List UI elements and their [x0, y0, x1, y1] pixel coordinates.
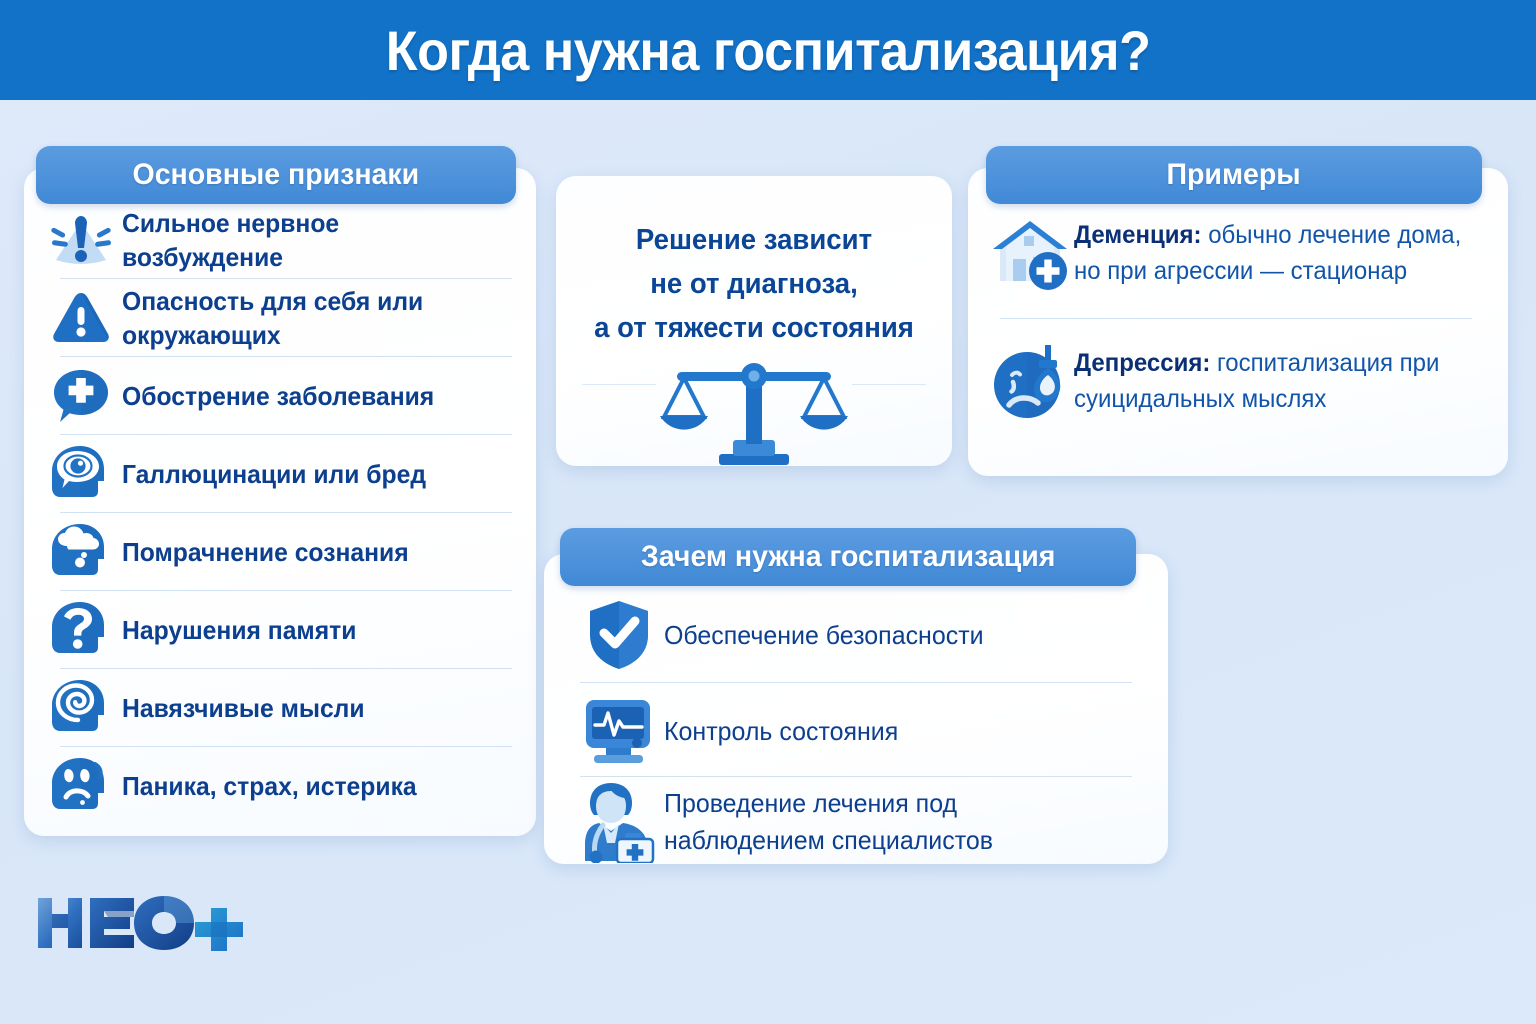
- sign-row[interactable]: Паника, страх, истерика: [44, 748, 524, 824]
- example-text: Депрессия: госпитализация при суицидальн…: [1074, 340, 1473, 417]
- example-term: Депрессия:: [1074, 349, 1210, 377]
- head-eye-bubble-icon: [44, 442, 118, 506]
- statement-line-2: не от диагноза,: [566, 262, 942, 306]
- purpose-label: Контроль состояния: [664, 713, 898, 750]
- house-medical-icon: [990, 212, 1074, 296]
- balance-scales-icon: [659, 354, 849, 466]
- statement-text: Решение зависит не от диагноза, а от тяж…: [566, 218, 942, 350]
- statement-line-1: Решение зависит: [566, 218, 942, 262]
- ecg-monitor-icon: [574, 688, 664, 774]
- sign-label: Галлюцинации или бред: [122, 457, 426, 491]
- row-divider: [60, 434, 512, 435]
- purpose-row[interactable]: Проведение лечения под наблюдением специ…: [574, 780, 1144, 864]
- examples-panel: Деменция: обычно лечение дома, но при аг…: [968, 168, 1508, 476]
- purpose-panel: Обеспечение безопасности Контроль состоя…: [544, 554, 1168, 864]
- examples-panel-heading: Примеры: [986, 146, 1482, 204]
- sign-label: Опасность для себя или окружающих: [122, 284, 504, 353]
- sign-label: Обострение заболевания: [122, 379, 434, 413]
- statement-card: Решение зависит не от диагноза, а от тяж…: [556, 176, 952, 466]
- sad-face-noose-icon: [990, 340, 1074, 424]
- shield-check-icon: [574, 592, 664, 678]
- example-row[interactable]: Деменция: обычно лечение дома, но при аг…: [990, 212, 1490, 296]
- sign-label: Нарушения памяти: [122, 613, 356, 647]
- sign-row[interactable]: Помрачнение сознания: [44, 514, 524, 590]
- row-divider: [60, 512, 512, 513]
- doctor-bag-icon: [574, 779, 664, 865]
- purpose-label: Проведение лечения под наблюдением специ…: [664, 785, 1125, 859]
- row-divider: [1000, 318, 1472, 319]
- row-divider: [60, 278, 512, 279]
- exclamation-burst-icon: [44, 208, 118, 272]
- sign-row[interactable]: Нарушения памяти: [44, 592, 524, 668]
- row-divider: [60, 590, 512, 591]
- head-cloud-icon: [44, 520, 118, 584]
- signs-panel: Сильное нервное возбуждение Опасность дл…: [24, 168, 536, 836]
- purpose-label: Обеспечение безопасности: [664, 617, 984, 654]
- sign-row[interactable]: Навязчивые мысли: [44, 670, 524, 746]
- neo-plus-logo[interactable]: [36, 892, 246, 954]
- sign-row[interactable]: Опасность для себя или окружающих: [44, 280, 524, 356]
- signs-panel-heading: Основные признаки: [36, 146, 516, 204]
- sign-label: Помрачнение сознания: [122, 535, 409, 569]
- purpose-panel-heading: Зачем нужна госпитализация: [560, 528, 1136, 586]
- sign-label: Паника, страх, истерика: [122, 769, 417, 803]
- sign-label: Навязчивые мысли: [122, 691, 365, 725]
- head-spiral-icon: [44, 676, 118, 740]
- purpose-heading-label: Зачем нужна госпитализация: [641, 540, 1055, 574]
- head-sad-face-icon: [44, 754, 118, 818]
- sign-row[interactable]: Галлюцинации или бред: [44, 436, 524, 512]
- purpose-row[interactable]: Обеспечение безопасности: [574, 592, 1144, 678]
- page-title: Когда нужна госпитализация?: [386, 18, 1151, 83]
- statement-line-3: а от тяжести состояния: [566, 306, 942, 350]
- scales-wrap: [556, 354, 952, 466]
- example-text: Деменция: обычно лечение дома, но при аг…: [1074, 212, 1473, 289]
- examples-heading-label: Примеры: [1167, 158, 1301, 192]
- row-divider: [580, 776, 1132, 777]
- row-divider: [60, 356, 512, 357]
- row-divider: [580, 682, 1132, 683]
- head-question-icon: [44, 598, 118, 662]
- signs-heading-label: Основные признаки: [133, 158, 420, 192]
- header-bar: Когда нужна госпитализация?: [0, 0, 1536, 100]
- medical-cross-bubble-icon: [44, 364, 118, 428]
- purpose-row[interactable]: Контроль состояния: [574, 688, 1144, 774]
- row-divider: [60, 746, 512, 747]
- row-divider: [60, 668, 512, 669]
- example-row[interactable]: Депрессия: госпитализация при суицидальн…: [990, 340, 1490, 424]
- sign-row[interactable]: Сильное нервное возбуждение: [44, 202, 524, 278]
- sign-label: Сильное нервное возбуждение: [122, 206, 504, 275]
- warning-triangle-icon: [44, 286, 118, 350]
- example-term: Деменция:: [1074, 221, 1202, 249]
- sign-row[interactable]: Обострение заболевания: [44, 358, 524, 434]
- infographic-page: Когда нужна госпитализация? Сильное нерв…: [0, 0, 1536, 1024]
